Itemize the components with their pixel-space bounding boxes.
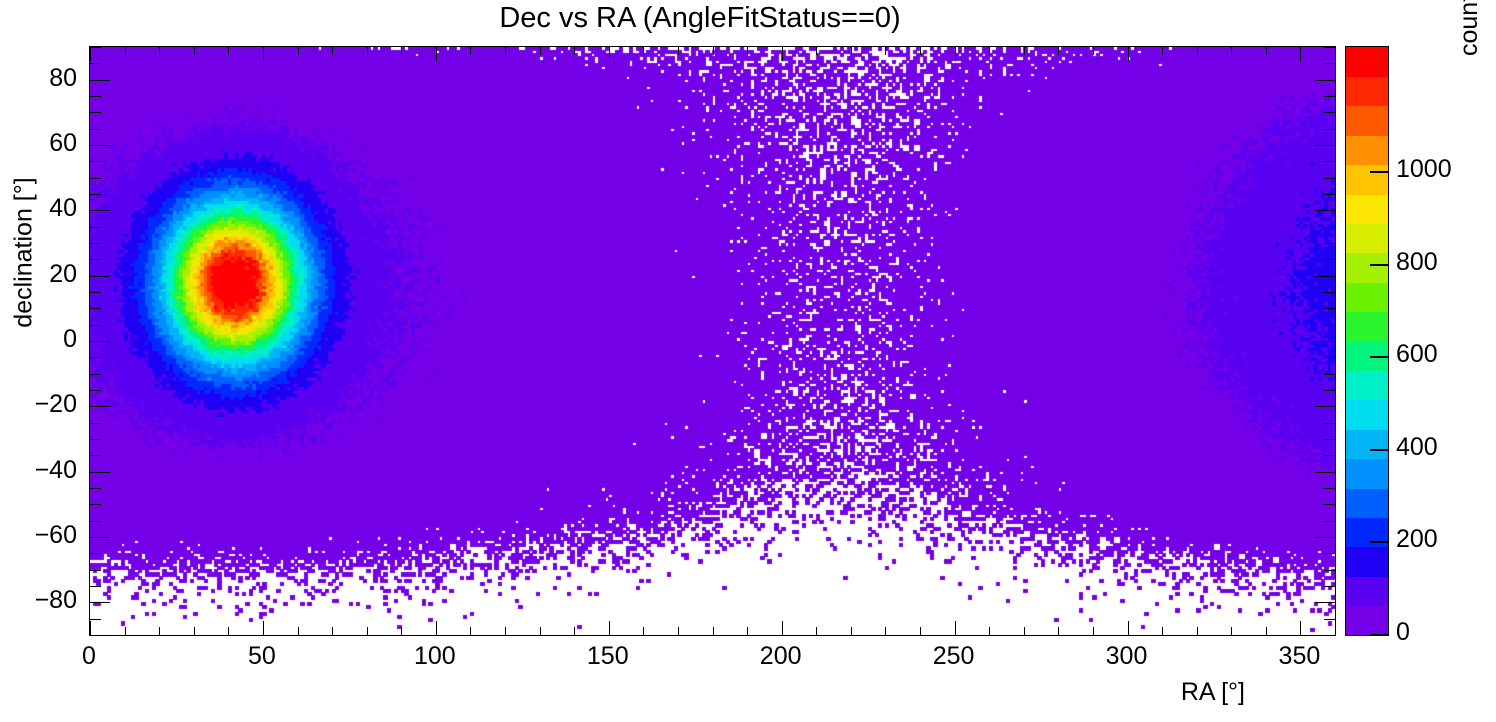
colorbar-tick [1370, 171, 1388, 173]
y-tick-right [1324, 488, 1335, 489]
colorbar-band [1346, 400, 1388, 430]
y-tick [90, 341, 110, 342]
x-tick-top [920, 47, 921, 55]
x-tick [643, 627, 644, 635]
y-tick [90, 406, 110, 407]
y-tick [90, 553, 101, 554]
x-tick [1128, 621, 1129, 635]
colorbar-band [1346, 76, 1388, 106]
x-tick-top [1231, 47, 1232, 55]
x-tick [540, 627, 541, 635]
y-tick-right [1324, 570, 1335, 571]
colorbar-band [1346, 165, 1388, 195]
y-tick-right [1324, 259, 1335, 260]
x-tick [678, 627, 679, 635]
x-tick [955, 621, 956, 635]
x-tick [816, 627, 817, 635]
x-tick-top [505, 47, 506, 55]
y-tick [90, 325, 101, 326]
x-tick-label: 300 [1087, 642, 1167, 671]
x-tick [713, 627, 714, 635]
y-tick-right [1315, 145, 1335, 146]
colorbar-tick-label: 600 [1396, 340, 1438, 369]
y-tick-right [1324, 129, 1335, 130]
colorbar-band [1346, 576, 1388, 606]
x-tick-label: 350 [1259, 642, 1339, 671]
x-tick-top [332, 47, 333, 55]
colorbar-band [1346, 282, 1388, 312]
x-tick-label: 250 [914, 642, 994, 671]
y-tick [90, 619, 101, 620]
x-tick-top [90, 47, 91, 61]
x-tick [1093, 627, 1094, 635]
x-axis-title: RA [°] [1181, 678, 1245, 707]
y-tick-right [1324, 455, 1335, 456]
y-tick [90, 227, 101, 228]
y-tick [90, 504, 101, 505]
y-tick [90, 488, 101, 489]
y-tick-right [1324, 423, 1335, 424]
y-tick-right [1315, 537, 1335, 538]
x-tick-top [367, 47, 368, 55]
y-tick-right [1324, 292, 1335, 293]
x-tick-label: 50 [222, 642, 302, 671]
x-tick [609, 621, 610, 635]
colorbar-tick [1370, 449, 1388, 451]
y-tick [90, 161, 101, 162]
x-tick [1335, 627, 1336, 635]
y-tick [90, 243, 101, 244]
x-tick-top [159, 47, 160, 55]
x-tick [1162, 627, 1163, 635]
x-tick [1058, 627, 1059, 635]
y-tick-right [1324, 96, 1335, 97]
x-tick-top [747, 47, 748, 55]
y-tick [90, 357, 101, 358]
colorbar-band [1346, 547, 1388, 577]
colorbar-band [1346, 253, 1388, 283]
y-tick [90, 455, 101, 456]
x-tick [228, 627, 229, 635]
y-tick [90, 47, 101, 48]
colorbar-band [1346, 223, 1388, 253]
colorbar-tick-label: 400 [1396, 433, 1438, 462]
y-tick-right [1324, 243, 1335, 244]
y-tick [90, 145, 110, 146]
colorbar-tick [1370, 264, 1388, 266]
x-tick-top [1197, 47, 1198, 55]
y-tick-right [1324, 521, 1335, 522]
x-tick [505, 627, 506, 635]
y-tick-right [1324, 357, 1335, 358]
y-tick-right [1315, 341, 1335, 342]
y-tick [90, 423, 101, 424]
x-tick-top [885, 47, 886, 55]
colorbar-band [1346, 429, 1388, 459]
x-tick-label: 100 [395, 642, 475, 671]
y-tick [90, 472, 110, 473]
colorbar-tick-label: 1000 [1396, 155, 1452, 184]
x-tick [125, 627, 126, 635]
y-tick-right [1315, 472, 1335, 473]
y-tick-right [1324, 553, 1335, 554]
x-tick-top [609, 47, 610, 61]
y-tick [90, 129, 101, 130]
colorbar-tick [1370, 634, 1388, 636]
y-tick-right [1315, 210, 1335, 211]
y-tick-label: −60 [7, 521, 77, 550]
y-tick [90, 308, 101, 309]
y-tick-right [1324, 161, 1335, 162]
y-tick-right [1315, 80, 1335, 81]
y-tick-right [1324, 635, 1335, 636]
x-tick [1024, 627, 1025, 635]
y-tick-label: −80 [7, 586, 77, 615]
x-tick [851, 627, 852, 635]
x-tick [470, 627, 471, 635]
x-tick-top [298, 47, 299, 55]
y-tick-right [1324, 63, 1335, 64]
x-tick-top [540, 47, 541, 55]
y-tick [90, 259, 101, 260]
x-tick-top [678, 47, 679, 55]
x-tick [885, 627, 886, 635]
x-tick-top [1024, 47, 1025, 55]
y-tick-right [1324, 227, 1335, 228]
x-tick [989, 627, 990, 635]
x-tick [436, 621, 437, 635]
colorbar-tick [1370, 356, 1388, 358]
y-tick [90, 586, 101, 587]
colorbar-title: count [1455, 0, 1484, 56]
y-tick [90, 210, 110, 211]
x-tick [1197, 627, 1198, 635]
y-tick [90, 570, 101, 571]
plot-canvas: Dec vs RA (AngleFitStatus==0) 0501001502… [0, 0, 1496, 722]
plot-frame [89, 46, 1336, 636]
colorbar-tick [1370, 541, 1388, 543]
colorbar-band [1346, 459, 1388, 489]
x-tick [782, 621, 783, 635]
colorbar-band [1346, 47, 1388, 77]
x-tick-top [1335, 47, 1336, 55]
y-tick-right [1324, 308, 1335, 309]
y-tick-right [1324, 112, 1335, 113]
colorbar-band [1346, 370, 1388, 400]
x-tick [159, 627, 160, 635]
y-tick [90, 80, 110, 81]
y-tick-right [1324, 374, 1335, 375]
y-tick [90, 178, 101, 179]
x-tick-top [851, 47, 852, 55]
x-tick-label: 150 [568, 642, 648, 671]
y-tick-right [1324, 390, 1335, 391]
x-tick-label: 200 [741, 642, 821, 671]
x-tick-top [643, 47, 644, 55]
x-tick-label: 0 [49, 642, 129, 671]
x-tick [1266, 627, 1267, 635]
y-tick [90, 276, 110, 277]
x-tick-top [955, 47, 956, 61]
y-tick [90, 374, 101, 375]
x-tick-top [1128, 47, 1129, 61]
x-tick-top [401, 47, 402, 55]
y-tick [90, 112, 101, 113]
x-tick [1300, 621, 1301, 635]
x-tick [574, 627, 575, 635]
page-title: Dec vs RA (AngleFitStatus==0) [0, 2, 1400, 35]
y-axis-title: declination [°] [10, 143, 39, 363]
colorbar [1345, 46, 1389, 636]
x-tick [920, 627, 921, 635]
y-tick-right [1324, 47, 1335, 48]
x-tick [298, 627, 299, 635]
x-tick-top [1058, 47, 1059, 55]
x-tick-top [1300, 47, 1301, 61]
y-tick-label: 80 [7, 64, 77, 93]
y-tick-label: −20 [7, 390, 77, 419]
y-tick-right [1324, 619, 1335, 620]
colorbar-band [1346, 106, 1388, 136]
heatmap-image [90, 47, 1335, 635]
y-tick [90, 96, 101, 97]
y-tick [90, 439, 101, 440]
x-tick [332, 627, 333, 635]
y-tick [90, 63, 101, 64]
y-tick-label: −40 [7, 456, 77, 485]
y-tick-right [1315, 276, 1335, 277]
x-tick-top [125, 47, 126, 55]
x-tick-top [436, 47, 437, 61]
colorbar-tick-label: 0 [1396, 618, 1410, 647]
x-tick [367, 627, 368, 635]
y-tick [90, 194, 101, 195]
y-tick [90, 602, 110, 603]
x-tick-top [1162, 47, 1163, 55]
y-tick-right [1324, 178, 1335, 179]
x-tick [401, 627, 402, 635]
y-tick-right [1315, 602, 1335, 603]
y-tick [90, 390, 101, 391]
x-tick [1231, 627, 1232, 635]
y-tick-right [1324, 325, 1335, 326]
colorbar-band [1346, 135, 1388, 165]
x-tick-top [228, 47, 229, 55]
x-tick [263, 621, 264, 635]
colorbar-tick-label: 800 [1396, 248, 1438, 277]
x-tick-top [989, 47, 990, 55]
x-tick [747, 627, 748, 635]
x-tick-top [263, 47, 264, 61]
x-tick-top [782, 47, 783, 61]
x-tick-top [574, 47, 575, 55]
y-tick-right [1324, 586, 1335, 587]
x-tick [90, 621, 91, 635]
y-tick [90, 635, 101, 636]
x-tick-top [1093, 47, 1094, 55]
y-tick-right [1324, 194, 1335, 195]
colorbar-band [1346, 606, 1388, 636]
x-tick-top [816, 47, 817, 55]
colorbar-tick-label: 200 [1396, 525, 1438, 554]
x-tick-top [1266, 47, 1267, 55]
y-tick [90, 537, 110, 538]
y-tick-right [1315, 406, 1335, 407]
x-tick-top [713, 47, 714, 55]
x-tick [194, 627, 195, 635]
colorbar-band [1346, 488, 1388, 518]
y-tick [90, 521, 101, 522]
y-tick [90, 292, 101, 293]
y-tick-right [1324, 504, 1335, 505]
x-tick-top [194, 47, 195, 55]
y-tick-right [1324, 439, 1335, 440]
colorbar-band [1346, 194, 1388, 224]
x-tick-top [470, 47, 471, 55]
colorbar-band [1346, 312, 1388, 342]
